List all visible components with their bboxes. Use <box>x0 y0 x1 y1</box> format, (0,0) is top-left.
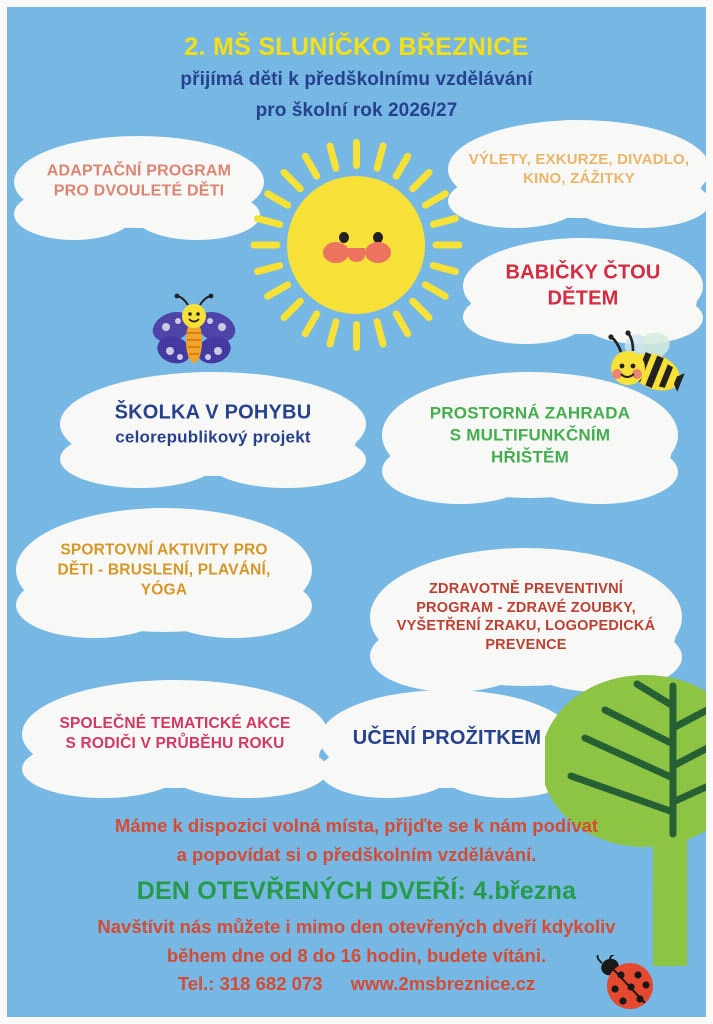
butterfly-icon <box>150 293 238 373</box>
sun-ray <box>353 321 360 351</box>
sun-ray <box>253 261 284 276</box>
cloud-text-line: ADAPTAČNÍ PROGRAM <box>14 162 264 182</box>
website-link[interactable]: www.2msbreznice.cz <box>351 973 535 994</box>
sun-ray <box>325 142 340 173</box>
cloud-text-themed-events: SPOLEČNÉ TEMATICKÉ AKCES RODIČI V PRŮBĚH… <box>22 714 328 754</box>
footer-line-1: Máme k dispozici volná místa, přijďte se… <box>0 812 713 841</box>
sun-ray <box>279 168 305 194</box>
bee-icon <box>605 330 689 398</box>
sun-disc <box>287 176 425 314</box>
cloud-themed-events: SPOLEČNÉ TEMATICKÉ AKCES RODIČI V PRŮBĚH… <box>22 680 328 788</box>
sun-ray <box>253 214 284 229</box>
cloud-text-line: VÝLETY, EXKURZE, DIVADLO, <box>448 150 710 169</box>
cloud-text-line: ZDRAVOTNĚ PREVENTIVNÍ <box>370 580 682 599</box>
footer-line-4: během dne od 8 do 16 hodin, budete vítán… <box>0 942 713 971</box>
cloud-text-line: SPOLEČNÉ TEMATICKÉ AKCE <box>22 714 328 734</box>
cloud-text-line: S MULTIFUNKČNÍM <box>382 424 678 446</box>
sun-ray <box>372 318 387 349</box>
subtitle-line-1: přijímá děti k předškolnímu vzdělávání <box>0 66 713 94</box>
cloud-text-line: HŘIŠTĚM <box>382 446 678 468</box>
sun-cheek-left <box>323 242 349 263</box>
sun-ray <box>407 296 433 322</box>
sun-ray <box>420 189 449 210</box>
cloud-adaptation-program: ADAPTAČNÍ PROGRAMPRO DVOULETÉ DĚTI <box>14 136 264 228</box>
sun-ray <box>262 189 291 210</box>
cloud-text-spacious-garden: PROSTORNÁ ZAHRADAS MULTIFUNKČNÍMHŘIŠTĚM <box>382 402 678 467</box>
sun-ray <box>300 309 321 338</box>
sun-ray <box>353 139 360 169</box>
sun-mouth <box>348 248 365 262</box>
cloud-text-health-prevention: ZDRAVOTNĚ PREVENTIVNÍPROGRAM - ZDRAVÉ ZO… <box>370 580 682 654</box>
phone-number: Tel.: 318 682 073 <box>178 973 323 994</box>
cloud-text-line: PRO DVOULETÉ DĚTI <box>14 182 264 202</box>
cloud-grandmas-read: BABIČKY ČTOUDĚTEM <box>463 238 703 334</box>
sun-ray <box>300 151 321 180</box>
cloud-text-line: VYŠETŘENÍ ZRAKU, LOGOPEDICKÁ <box>370 617 682 636</box>
cloud-text-school-in-motion: ŠKOLKA V POHYBUcelorepublikový projekt <box>60 400 366 447</box>
poster-footer: Máme k dispozici volná místa, přijďte se… <box>0 812 713 999</box>
cloud-text-line: celorepublikový projekt <box>60 426 366 448</box>
cloud-text-line: PROGRAM - ZDRAVÉ ZOUBKY, <box>370 598 682 617</box>
cloud-text-line: PROSTORNÁ ZAHRADA <box>382 402 678 424</box>
poster-canvas: ADAPTAČNÍ PROGRAMPRO DVOULETÉ DĚTI VÝLET… <box>0 0 713 1024</box>
sun-ray <box>432 242 462 249</box>
sun-ray <box>429 261 460 276</box>
cloud-text-line: SPORTOVNÍ AKTIVITY PRO <box>16 540 312 560</box>
sun-ray <box>391 151 412 180</box>
sun-ray <box>279 296 305 322</box>
footer-line-3: Navštívit nás můžete i mimo den otevřený… <box>0 913 713 942</box>
cloud-text-line: UČENÍ PROŽITKEM <box>320 726 574 752</box>
cloud-text-line: DĚTI - BRUSLENÍ, PLAVÁNÍ, <box>16 560 312 580</box>
sun-ray <box>420 280 449 301</box>
sun-ray <box>325 318 340 349</box>
poster-header: 2. MŠ SLUNÍČKO BŘEZNICE přijímá děti k p… <box>0 34 713 125</box>
cloud-text-line: ŠKOLKA V POHYBU <box>60 400 366 426</box>
cloud-text-adaptation-program: ADAPTAČNÍ PROGRAMPRO DVOULETÉ DĚTI <box>14 162 264 203</box>
subtitle-line-2: pro školní rok 2026/27 <box>0 97 713 125</box>
cloud-text-line: YÓGA <box>16 580 312 600</box>
cloud-text-line: BABIČKY ČTOU <box>463 260 703 286</box>
sun-ray <box>372 142 387 173</box>
footer-line-2: a popovídat si o předškolním vzdělávání. <box>0 841 713 870</box>
contact-line: Tel.: 318 682 073 www.2msbreznice.cz <box>0 970 713 999</box>
sun-ray <box>407 168 433 194</box>
cloud-text-line: S RODIČI V PRŮBĚHU ROKU <box>22 734 328 754</box>
cloud-text-learning-by-experience: UČENÍ PROŽITKEM <box>320 726 574 752</box>
sun-ray <box>429 214 460 229</box>
cloud-trips-excursions: VÝLETY, EXKURZE, DIVADLO,KINO, ZÁŽITKY <box>448 120 710 218</box>
sun-cheek-right <box>365 242 391 263</box>
sun-eye-left <box>339 232 349 243</box>
cloud-puff <box>320 744 454 798</box>
smiling-sun-icon <box>243 132 469 358</box>
cloud-sport-activities: SPORTOVNÍ AKTIVITY PRODĚTI - BRUSLENÍ, P… <box>16 508 312 632</box>
sun-ray <box>391 309 412 338</box>
cloud-learning-by-experience: UČENÍ PROŽITKEM <box>320 690 574 788</box>
cloud-text-sport-activities: SPORTOVNÍ AKTIVITY PRODĚTI - BRUSLENÍ, P… <box>16 540 312 599</box>
cloud-text-line: DĚTEM <box>463 286 703 312</box>
cloud-text-grandmas-read: BABIČKY ČTOUDĚTEM <box>463 260 703 311</box>
cloud-text-line: PREVENCE <box>370 636 682 655</box>
cloud-school-in-motion: ŠKOLKA V POHYBUcelorepublikový projekt <box>60 372 366 476</box>
open-day-heading: DEN OTEVŘENÝCH DVEŘÍ: 4.března <box>0 873 713 911</box>
page-title: 2. MŠ SLUNÍČKO BŘEZNICE <box>0 34 713 62</box>
cloud-text-line: KINO, ZÁŽITKY <box>448 169 710 188</box>
sun-ray <box>262 280 291 301</box>
cloud-text-trips-excursions: VÝLETY, EXKURZE, DIVADLO,KINO, ZÁŽITKY <box>448 150 710 188</box>
sun-ray <box>250 242 280 249</box>
